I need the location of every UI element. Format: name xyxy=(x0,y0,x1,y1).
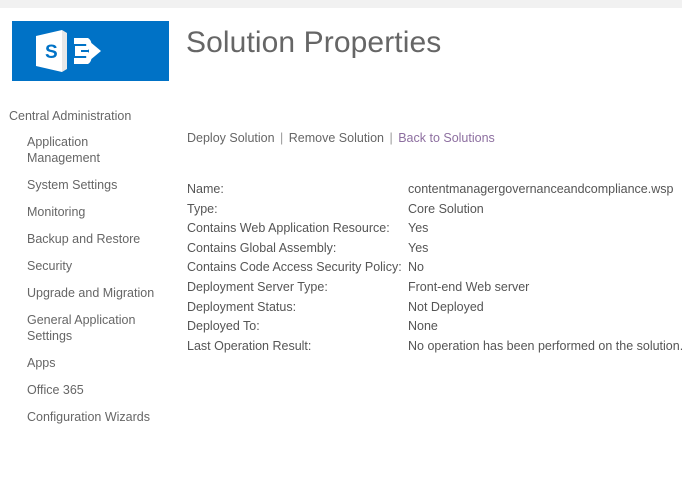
sidebar-item-monitoring[interactable]: Monitoring xyxy=(0,204,180,220)
property-label-name: Name: xyxy=(187,180,224,200)
table-row: Type: Core Solution xyxy=(187,200,682,220)
remove-solution-link[interactable]: Remove Solution xyxy=(289,131,384,145)
table-row: Contains Web Application Resource: Yes xyxy=(187,219,682,239)
property-value-deployment-server-type: Front-end Web server xyxy=(408,278,529,298)
top-browser-strip xyxy=(0,0,682,8)
property-label-contains-web-application-resource: Contains Web Application Resource: xyxy=(187,219,390,239)
table-row: Contains Code Access Security Policy: No xyxy=(187,258,682,278)
sidebar-item-office-365[interactable]: Office 365 xyxy=(0,382,180,398)
action-separator: | xyxy=(387,131,394,145)
nav-heading-central-administration: Central Administration xyxy=(0,108,180,124)
sidebar-item-backup-and-restore[interactable]: Backup and Restore xyxy=(0,231,180,247)
property-value-type: Core Solution xyxy=(408,200,484,220)
table-row: Deployment Status: Not Deployed xyxy=(187,298,682,318)
sidebar-item-system-settings[interactable]: System Settings xyxy=(0,177,180,193)
property-value-name: contentmanagergovernanceandcompliance.ws… xyxy=(408,180,673,200)
solution-properties-table: Name: contentmanagergovernanceandcomplia… xyxy=(187,180,682,356)
property-label-contains-code-access-security-policy: Contains Code Access Security Policy: xyxy=(187,258,402,278)
sharepoint-logo-icon: S xyxy=(34,29,108,73)
table-row: Contains Global Assembly: Yes xyxy=(187,239,682,259)
property-label-last-operation-result: Last Operation Result: xyxy=(187,337,311,357)
sidebar-item-application-management[interactable]: Application Management xyxy=(0,134,153,166)
page-title: Solution Properties xyxy=(186,26,441,60)
property-value-contains-web-application-resource: Yes xyxy=(408,219,428,239)
page-header: S Solution Properties xyxy=(0,21,682,83)
action-separator: | xyxy=(278,131,285,145)
property-value-deployment-status: Not Deployed xyxy=(408,298,484,318)
sidebar-item-security[interactable]: Security xyxy=(0,258,180,274)
property-value-contains-code-access-security-policy: No xyxy=(408,258,424,278)
property-label-deployment-server-type: Deployment Server Type: xyxy=(187,278,328,298)
property-label-contains-global-assembly: Contains Global Assembly: xyxy=(187,239,336,259)
property-value-contains-global-assembly: Yes xyxy=(408,239,428,259)
back-to-solutions-link[interactable]: Back to Solutions xyxy=(398,131,495,145)
table-row: Deployment Server Type: Front-end Web se… xyxy=(187,278,682,298)
property-label-deployed-to: Deployed To: xyxy=(187,317,260,337)
deploy-solution-link[interactable]: Deploy Solution xyxy=(187,131,275,145)
property-value-last-operation-result: No operation has been performed on the s… xyxy=(408,337,682,357)
sidebar-item-configuration-wizards[interactable]: Configuration Wizards xyxy=(0,409,180,425)
main-content: Deploy Solution | Remove Solution | Back… xyxy=(187,130,682,146)
table-row: Last Operation Result: No operation has … xyxy=(187,337,682,357)
sidebar-nav: Central Administration Application Manag… xyxy=(0,108,180,436)
property-label-type: Type: xyxy=(187,200,218,220)
sidebar-item-general-application-settings[interactable]: General Application Settings xyxy=(0,312,153,344)
property-value-deployed-to: None xyxy=(408,317,438,337)
action-links-bar: Deploy Solution | Remove Solution | Back… xyxy=(187,130,682,146)
table-row: Name: contentmanagergovernanceandcomplia… xyxy=(187,180,682,200)
sidebar-item-upgrade-and-migration[interactable]: Upgrade and Migration xyxy=(0,285,180,301)
table-row: Deployed To: None xyxy=(187,317,682,337)
sharepoint-logo-tile[interactable]: S xyxy=(12,21,169,81)
property-label-deployment-status: Deployment Status: xyxy=(187,298,296,318)
svg-text:S: S xyxy=(45,42,58,63)
sidebar-item-apps[interactable]: Apps xyxy=(0,355,180,371)
